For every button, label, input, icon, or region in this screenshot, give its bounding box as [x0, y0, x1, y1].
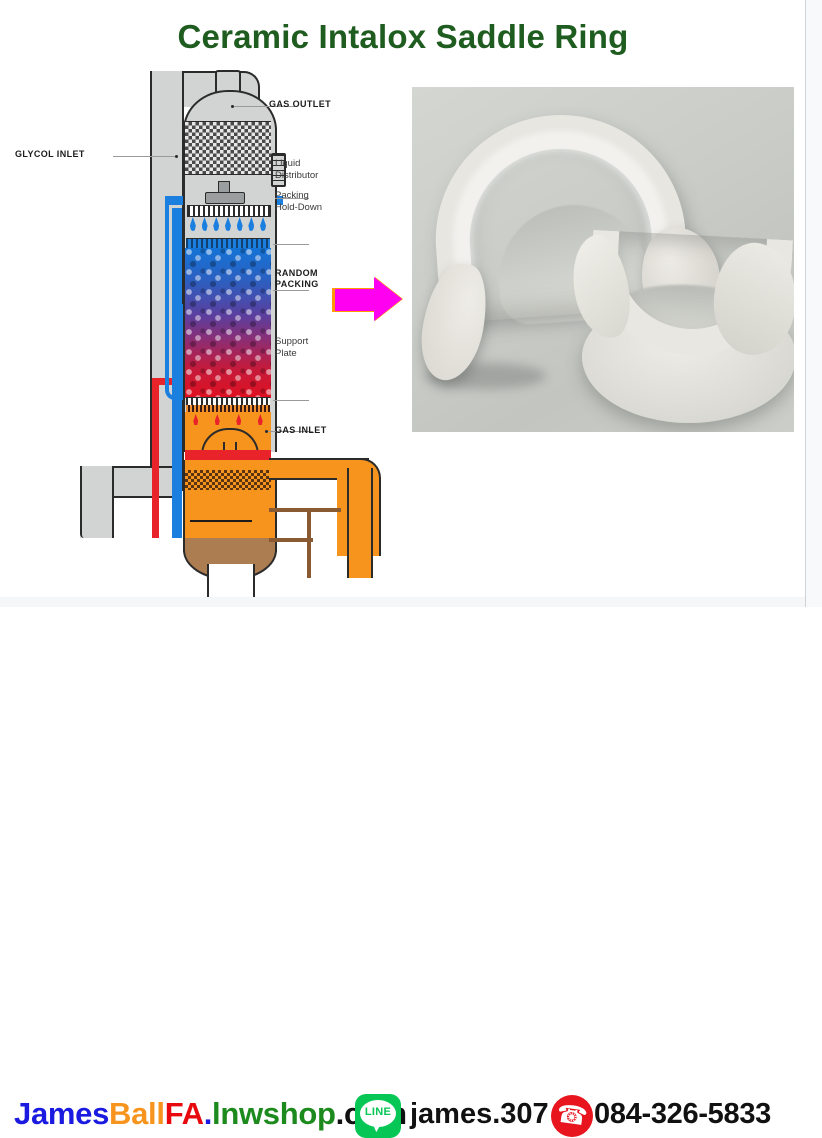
droplet — [260, 217, 266, 231]
falling-glycol-drops — [185, 414, 271, 425]
gas-flow-zone — [185, 412, 271, 452]
droplet — [237, 217, 243, 231]
liquid-level-line — [190, 520, 252, 522]
label-gas-inlet: GAS INLET — [275, 425, 327, 436]
leader-dot — [175, 155, 178, 158]
droplet — [225, 217, 231, 231]
random-packing-bed — [185, 248, 271, 398]
liquid-spray-drops — [187, 217, 269, 237]
leader-dot — [265, 430, 268, 433]
leader-line-glycol-inlet — [113, 156, 177, 157]
line-icon-label: LINE — [360, 1106, 396, 1118]
label-random-packing: RANDOM PACKING — [275, 268, 319, 291]
phone-icon[interactable]: ☎ — [551, 1095, 593, 1137]
leader-line-packing-holddown — [273, 244, 309, 245]
droplet — [190, 217, 196, 231]
droplet — [193, 414, 198, 425]
arrow-shaft — [332, 288, 379, 312]
droplet — [248, 217, 254, 231]
label-liquid-distributor: Liquid Distributor — [275, 158, 318, 182]
footer-contact-bar: JamesBallFA.lnwshop.com LINE james.307 ☎… — [0, 546, 806, 596]
line-id-text: james.307 — [410, 1098, 549, 1131]
droplet — [258, 414, 263, 425]
bottom-page-band — [0, 597, 806, 607]
url-part-james: James — [14, 1096, 109, 1131]
page-title: Ceramic Intalox Saddle Ring — [0, 18, 806, 56]
phone-number-text: 084-326-5833 — [594, 1098, 771, 1131]
label-gas-outlet: GAS OUTLET — [269, 99, 331, 110]
support-plate-grid — [186, 405, 270, 412]
line-icon[interactable]: LINE — [355, 1094, 401, 1138]
droplet — [236, 414, 241, 425]
label-glycol-inlet: GLYCOL INLET — [15, 149, 85, 160]
rich-glycol-pipe-vertical — [152, 378, 159, 538]
slide-page: Ceramic Intalox Saddle Ring — [0, 0, 822, 607]
liquid-distributor-tray — [187, 205, 271, 217]
url-part-ball: Ball — [109, 1096, 165, 1131]
inlet-scrubber-mesh — [185, 470, 271, 490]
leader-dot — [231, 105, 234, 108]
droplet — [202, 217, 208, 231]
distributor-cap — [205, 192, 245, 204]
drain-pipe-branch — [269, 538, 313, 542]
page-scroll-gutter[interactable] — [805, 0, 822, 607]
droplet — [215, 414, 220, 425]
drain-pipe-horizontal — [269, 508, 341, 512]
rich-glycol-band — [185, 450, 271, 460]
gas-pipe-down-leg-outline — [80, 466, 114, 538]
url-part-dot: . — [204, 1096, 212, 1131]
website-url[interactable]: JamesBallFA.lnwshop.com — [14, 1096, 407, 1132]
url-part-fa: FA — [165, 1096, 204, 1131]
mist-eliminator-mesh — [185, 121, 271, 175]
label-packing-hold-down: Packing Hold-Down — [275, 190, 322, 214]
droplet — [213, 217, 219, 231]
url-part-lnwshop: lnwshop — [212, 1096, 336, 1131]
arrow-head — [374, 277, 402, 321]
ceramic-intalox-saddle-ring-photo — [412, 87, 794, 432]
pointer-arrow — [332, 276, 404, 322]
phone-handset-glyph: ☎ — [555, 1101, 589, 1130]
leader-line-support-plate — [273, 400, 309, 401]
label-support-plate: Support Plate — [275, 336, 308, 360]
line-bubble-tail — [370, 1121, 381, 1132]
